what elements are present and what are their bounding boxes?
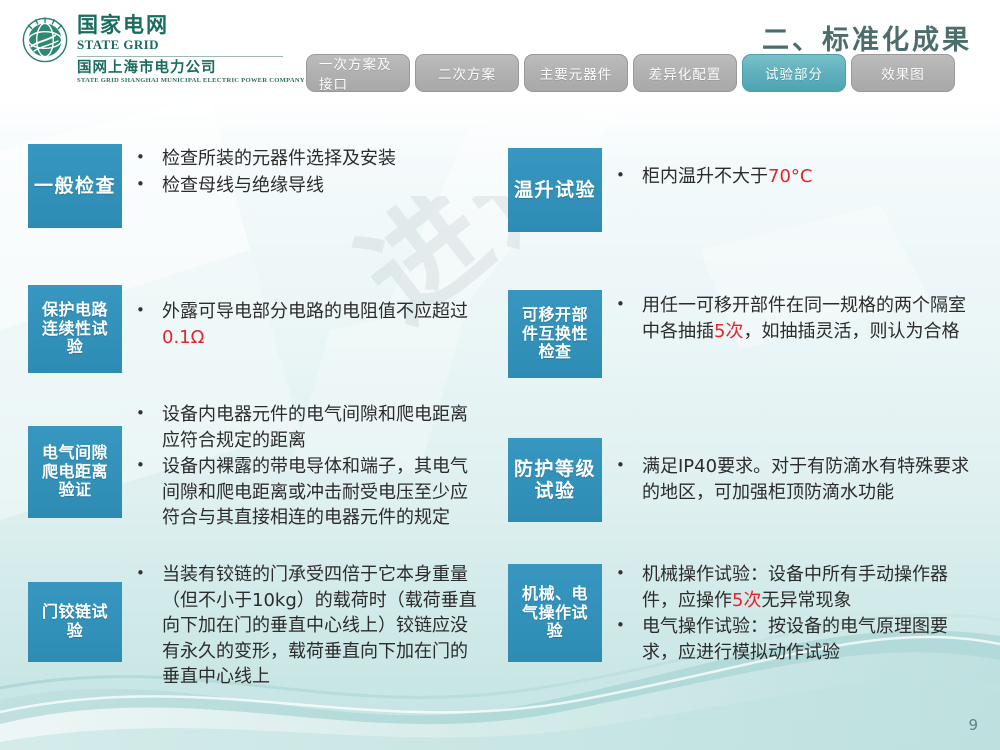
section-tabs[interactable]: 一次方案及接口 二次方案 主要元器件 差异化配置 试验部分 效果图 bbox=[306, 54, 955, 92]
bullet-dot: • bbox=[136, 562, 162, 585]
bullet-item: • 设备内裸露的带电导体和端子，其电气间隙和爬电距离或冲击耐受电压至少应符合与其… bbox=[136, 454, 478, 531]
test-item-door-hinge: 门铰链试验 • 当装有铰链的门承受四倍于它本身重量（但不小于10kg）的载荷时（… bbox=[28, 560, 478, 691]
test-item-bullets: • 满足IP40要求。对于有防滴水有特殊要求的地区，可加强柜顶防滴水功能 bbox=[602, 438, 978, 506]
bullet-text: 检查母线与绝缘导线 bbox=[162, 175, 324, 196]
bullet-text: 电气操作试验：按设备的电气原理图要求，应进行模拟动作试验 bbox=[642, 616, 948, 663]
slide-body: 一般检查 • 检查所装的元器件选择及安装 • 检查母线与绝缘导线 保护电路连续性… bbox=[0, 100, 1000, 700]
test-item-bullets: • 机械操作试验：设备中所有手动操作器件，应操作5次无异常现象 • 电气操作试验… bbox=[602, 560, 978, 666]
brand-logo: 国家电网 STATE GRID 国网上海市电力公司 STATE GRID SHA… bbox=[22, 14, 305, 85]
subsidiary-name-en: STATE GRID SHANGHAI MUNICIPAL ELECTRIC P… bbox=[77, 77, 305, 85]
slide-canvas: 进通 国家电网 STATE G bbox=[0, 0, 1000, 750]
bullet-item: • 柜内温升不大于70°C bbox=[616, 164, 978, 190]
test-item-label: 门铰链试验 bbox=[28, 582, 122, 662]
bullet-text: 检查所装的元器件选择及安装 bbox=[162, 148, 396, 169]
bullet-dot: • bbox=[616, 614, 642, 637]
test-item-label: 可移开部件互换性检查 bbox=[508, 290, 602, 378]
state-grid-globe-icon bbox=[22, 17, 68, 63]
bullet-item: • 外露可导电部分电路的电阻值不应超过0.1Ω bbox=[136, 299, 478, 350]
bullet-item: • 电气操作试验：按设备的电气原理图要求，应进行模拟动作试验 bbox=[616, 614, 978, 665]
tab-secondary-scheme[interactable]: 二次方案 bbox=[415, 54, 519, 92]
slide-header: 国家电网 STATE GRID 国网上海市电力公司 STATE GRID SHA… bbox=[0, 0, 1000, 100]
tab-main-components[interactable]: 主要元器件 bbox=[524, 54, 628, 92]
test-item-clearance-creepage-verification: 电气间隙爬电距离验证 • 设备内电器元件的电气间隙和爬电距离应符合规定的距离 •… bbox=[28, 400, 478, 532]
test-item-label: 机械、电气操作试验 bbox=[508, 564, 602, 662]
bullet-item: • 设备内电器元件的电气间隙和爬电距离应符合规定的距离 bbox=[136, 402, 478, 453]
bullet-dot: • bbox=[136, 299, 162, 322]
test-item-label: 电气间隙爬电距离验证 bbox=[28, 426, 122, 518]
company-name-en: STATE GRID bbox=[77, 37, 305, 52]
bullet-item: • 用任一可移开部件在同一规格的两个隔室中各抽插5次，如抽插灵活，则认为合格 bbox=[616, 293, 978, 344]
test-item-general-inspection: 一般检查 • 检查所装的元器件选择及安装 • 检查母线与绝缘导线 bbox=[28, 144, 478, 228]
bullet-item: • 检查母线与绝缘导线 bbox=[136, 173, 478, 199]
bullet-highlight: 5次 bbox=[714, 321, 743, 342]
company-name-cn: 国家电网 bbox=[77, 14, 305, 37]
bullet-dot: • bbox=[136, 146, 162, 169]
bullet-dot: • bbox=[136, 454, 162, 477]
bullet-item: • 检查所装的元器件选择及安装 bbox=[136, 146, 478, 172]
test-item-bullets: • 设备内电器元件的电气间隙和爬电距离应符合规定的距离 • 设备内裸露的带电导体… bbox=[122, 400, 478, 532]
bullet-text: 外露可导电部分电路的电阻值不应超过 bbox=[162, 301, 468, 322]
bullet-dot: • bbox=[136, 402, 162, 425]
bullet-item: • 满足IP40要求。对于有防滴水有特殊要求的地区，可加强柜顶防滴水功能 bbox=[616, 454, 978, 505]
page-number: 9 bbox=[968, 716, 978, 734]
test-item-bullets: • 检查所装的元器件选择及安装 • 检查母线与绝缘导线 bbox=[122, 144, 478, 199]
bullet-highlight: 0.1Ω bbox=[162, 327, 204, 348]
test-item-label: 保护电路连续性试验 bbox=[28, 285, 122, 373]
bullet-item: • 机械操作试验：设备中所有手动操作器件，应操作5次无异常现象 bbox=[616, 562, 978, 613]
bullet-highlight: 70°C bbox=[768, 166, 812, 187]
bullet-text: 当装有铰链的门承受四倍于它本身重量（但不小于10kg）的载荷时（载荷垂直向下加在… bbox=[162, 564, 477, 687]
bullet-text: 设备内裸露的带电导体和端子，其电气间隙和爬电距离或冲击耐受电压至少应符合与其直接… bbox=[162, 456, 468, 528]
bullet-highlight: 5次 bbox=[732, 590, 761, 611]
tab-differentiated-config[interactable]: 差异化配置 bbox=[633, 54, 737, 92]
bullet-text-suffix: ，如抽插灵活，则认为合格 bbox=[743, 321, 959, 342]
bullet-text: 设备内电器元件的电气间隙和爬电距离应符合规定的距离 bbox=[162, 404, 468, 451]
test-item-label: 温升试验 bbox=[508, 148, 602, 232]
bullet-dot: • bbox=[616, 293, 642, 316]
test-item-label: 防护等级试验 bbox=[508, 438, 602, 522]
test-item-temperature-rise: 温升试验 • 柜内温升不大于70°C bbox=[508, 148, 978, 232]
bullet-dot: • bbox=[136, 173, 162, 196]
test-item-protective-circuit-continuity: 保护电路连续性试验 • 外露可导电部分电路的电阻值不应超过0.1Ω bbox=[28, 285, 478, 373]
section-title: 二、标准化成果 bbox=[762, 18, 972, 57]
test-item-bullets: • 当装有铰链的门承受四倍于它本身重量（但不小于10kg）的载荷时（载荷垂直向下… bbox=[122, 560, 478, 691]
tab-test-section[interactable]: 试验部分 bbox=[742, 54, 846, 92]
test-item-removable-part-interchangeability: 可移开部件互换性检查 • 用任一可移开部件在同一规格的两个隔室中各抽插5次，如抽… bbox=[508, 290, 978, 378]
subsidiary-name-cn: 国网上海市电力公司 bbox=[77, 60, 305, 77]
test-item-protection-degree: 防护等级试验 • 满足IP40要求。对于有防滴水有特殊要求的地区，可加强柜顶防滴… bbox=[508, 438, 978, 522]
test-item-bullets: • 用任一可移开部件在同一规格的两个隔室中各抽插5次，如抽插灵活，则认为合格 bbox=[602, 290, 978, 345]
test-item-bullets: • 外露可导电部分电路的电阻值不应超过0.1Ω bbox=[122, 285, 478, 351]
test-item-label: 一般检查 bbox=[28, 144, 122, 228]
bullet-text: 满足IP40要求。对于有防滴水有特殊要求的地区，可加强柜顶防滴水功能 bbox=[642, 456, 969, 503]
bullet-dot: • bbox=[616, 454, 642, 477]
tab-primary-scheme-interface[interactable]: 一次方案及接口 bbox=[306, 54, 410, 92]
bullet-text-suffix: 无异常现象 bbox=[761, 590, 851, 611]
bullet-item: • 当装有铰链的门承受四倍于它本身重量（但不小于10kg）的载荷时（载荷垂直向下… bbox=[136, 562, 478, 690]
bullet-dot: • bbox=[616, 164, 642, 187]
logo-divider bbox=[77, 56, 283, 57]
tab-rendering[interactable]: 效果图 bbox=[851, 54, 955, 92]
bullet-text: 柜内温升不大于 bbox=[642, 166, 768, 187]
test-item-bullets: • 柜内温升不大于70°C bbox=[602, 148, 978, 191]
test-item-mechanical-electrical-operation: 机械、电气操作试验 • 机械操作试验：设备中所有手动操作器件，应操作5次无异常现… bbox=[508, 560, 978, 666]
brand-text: 国家电网 STATE GRID 国网上海市电力公司 STATE GRID SHA… bbox=[77, 14, 305, 85]
bullet-dot: • bbox=[616, 562, 642, 585]
